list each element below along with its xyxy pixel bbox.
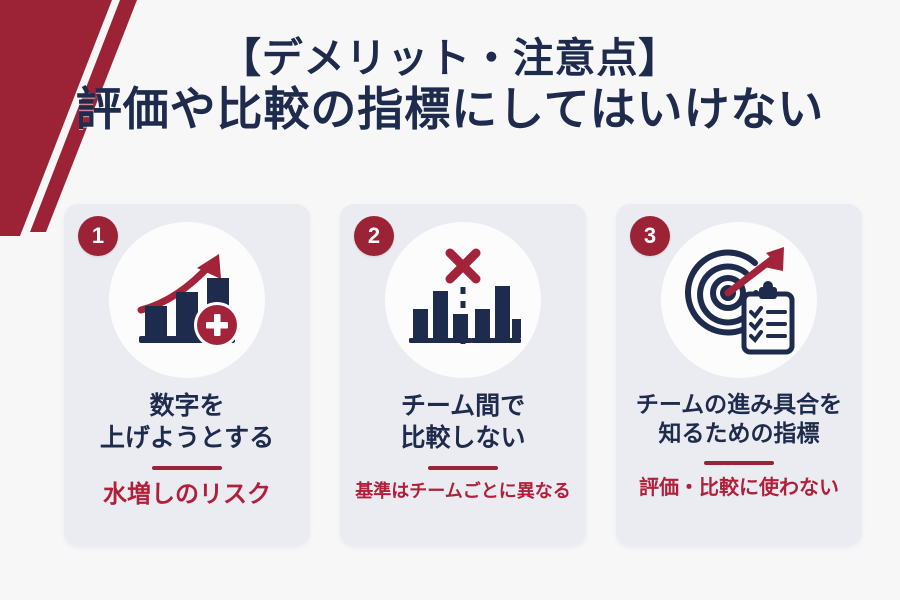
- target-arrow-clipboard-icon: [680, 245, 798, 355]
- card-3-divider: [704, 461, 774, 465]
- card-1-icon-circle: [109, 222, 265, 378]
- card-row: 1 数字を 上げようとする 水増しのリスク 2: [64, 204, 862, 546]
- card-3-icon-circle: [661, 222, 817, 378]
- card-1[interactable]: 1 数字を 上げようとする 水増しのリスク: [64, 204, 310, 546]
- card-3-subtitle: 評価・比較に使わない: [639, 476, 839, 500]
- card-2[interactable]: 2 チーム間で 比較しない: [340, 204, 586, 546]
- card-3-title: チームの進み具合を 知るための指標: [636, 390, 842, 449]
- bar-chart-growth-plus-icon: [131, 248, 243, 352]
- card-1-subtitle: 水増しのリスク: [103, 481, 271, 510]
- card-2-icon-circle: [385, 222, 541, 378]
- page-header: 【デメリット・注意点】 評価や比較の指標にしてはいけない: [0, 34, 900, 138]
- card-2-subtitle: 基準はチームごとに異なる: [355, 481, 570, 503]
- page-title-line-1: 【デメリット・注意点】: [0, 34, 900, 82]
- card-1-divider: [152, 466, 222, 470]
- bar-chart-comparison-cross-icon: [405, 247, 521, 353]
- card-1-number-badge: 1: [78, 216, 118, 256]
- card-1-title: 数字を 上げようとする: [100, 390, 274, 454]
- page-title-line-2: 評価や比較の指標にしてはいけない: [0, 82, 900, 137]
- card-2-number-badge: 2: [354, 216, 394, 256]
- card-3[interactable]: 3: [616, 204, 862, 546]
- card-2-title: チーム間で 比較しない: [400, 390, 525, 454]
- card-3-number-badge: 3: [630, 216, 670, 256]
- card-2-divider: [428, 466, 498, 470]
